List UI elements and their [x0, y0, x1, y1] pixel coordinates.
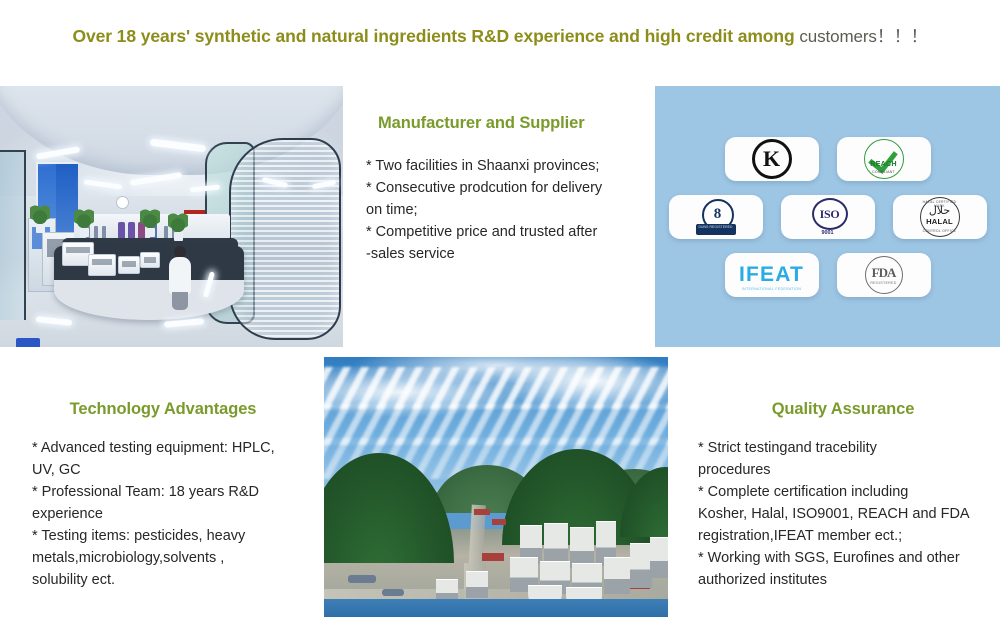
reach-sublabel: COMPLIANT — [865, 170, 903, 174]
aerial-roof — [382, 589, 404, 596]
quality-assurance-block: Quality Assurance * Strict testingand tr… — [690, 400, 996, 591]
technician-legs — [172, 292, 188, 310]
ifeat-sublabel: INTERNATIONAL FEDERATION — [739, 288, 804, 292]
aerial-building — [630, 543, 652, 588]
headline-tail-text: customers！！！ — [799, 27, 927, 46]
lab-potted-plant — [30, 204, 50, 226]
iso-certification-card[interactable]: ISO 9001 — [781, 195, 875, 239]
kosher-circle-k-badge-icon: K — [752, 139, 792, 179]
aerial-cloud-band — [324, 367, 668, 409]
fda-sublabel: REGISTERED — [866, 281, 902, 285]
aerial-river — [324, 599, 668, 617]
page-headline: Over 18 years' synthetic and natural ing… — [0, 22, 1000, 47]
manufacturer-supplier-body: * Two facilities in Shaanxi provinces; *… — [366, 155, 650, 265]
aerial-building — [570, 527, 594, 568]
halal-bottom-arc-text: CONTROL OFFICE — [921, 229, 959, 233]
ifeat-label: IFEAT — [739, 263, 804, 286]
fda-registered-badge-icon: FDA REGISTERED — [865, 256, 903, 294]
certification-badges-panel: K REACH COMPLIANT 8 DUNS REGISTERED — [655, 86, 1000, 347]
lab-instrument — [140, 252, 160, 268]
certification-row-2: 8 DUNS REGISTERED ISO 9001 HALAL CERTIFI… — [665, 195, 990, 239]
certification-row-3: IFEAT INTERNATIONAL FEDERATION FDA REGIS… — [665, 253, 990, 297]
quality-assurance-body: * Strict testingand tracebility procedur… — [690, 437, 996, 591]
aerial-red-roof — [474, 509, 490, 515]
iso-9001-badge-icon: ISO 9001 — [807, 198, 849, 236]
reach-label: REACH — [865, 159, 903, 168]
lab-potted-plant — [140, 208, 160, 230]
certification-row-1: K REACH COMPLIANT — [665, 137, 990, 181]
technology-advantages-body: * Advanced testing equipment: HPLC, UV, … — [8, 437, 318, 591]
lab-blue-floor-box — [16, 338, 40, 347]
quality-seal-certification-card[interactable]: 8 DUNS REGISTERED — [669, 195, 763, 239]
aerial-red-roof — [482, 553, 504, 561]
aerial-roof — [348, 575, 376, 583]
quality-seal-symbol: 8 — [714, 207, 722, 222]
manufacturer-supplier-title: Manufacturer and Supplier — [366, 114, 650, 133]
kosher-certification-card[interactable]: K — [725, 137, 819, 181]
certification-grid: K REACH COMPLIANT 8 DUNS REGISTERED — [655, 86, 1000, 347]
lab-wall-clock — [116, 196, 129, 209]
lab-technician — [168, 246, 192, 310]
lab-glass-partition-curved — [229, 138, 341, 340]
ifeat-certification-card[interactable]: IFEAT INTERNATIONAL FEDERATION — [725, 253, 819, 297]
quality-assurance-title: Quality Assurance — [690, 400, 996, 419]
iso-ring: ISO — [812, 198, 848, 230]
aerial-building — [604, 557, 630, 594]
headline-main-text: Over 18 years' synthetic and natural ing… — [72, 26, 799, 46]
lab-instrument — [88, 254, 116, 276]
halal-certification-card[interactable]: HALAL CERTIFIED MARK حلال HALAL CONTROL … — [893, 195, 987, 239]
technician-lab-coat — [169, 257, 191, 295]
technology-advantages-title: Technology Advantages — [8, 400, 318, 419]
fda-certification-card[interactable]: FDA REGISTERED — [837, 253, 931, 297]
aerial-building — [544, 523, 568, 566]
quality-seal-banner: DUNS REGISTERED — [696, 224, 736, 235]
reach-compliant-badge-icon: REACH COMPLIANT — [864, 139, 904, 179]
lab-potted-plant — [168, 212, 188, 234]
aerial-town-panorama-photo — [324, 357, 668, 617]
ifeat-member-badge-icon: IFEAT INTERNATIONAL FEDERATION — [739, 264, 804, 285]
lab-left-glass-door — [0, 150, 26, 320]
quality-seal-badge-icon: 8 DUNS REGISTERED — [696, 199, 736, 235]
aerial-red-roof — [492, 519, 506, 525]
halal-arabic-script: حلال — [921, 205, 959, 216]
iso-standard-number: 9001 — [807, 230, 849, 236]
aerial-building — [466, 571, 488, 598]
laboratory-panorama-photo — [0, 86, 343, 347]
fda-label: FDA — [872, 266, 896, 279]
lab-potted-plant — [74, 208, 94, 230]
aerial-building — [650, 537, 668, 578]
reach-certification-card[interactable]: REACH COMPLIANT — [837, 137, 931, 181]
iso-label: ISO — [820, 208, 840, 220]
manufacturer-supplier-block: Manufacturer and Supplier * Two faciliti… — [366, 114, 650, 265]
lab-instrument — [118, 256, 140, 274]
halal-badge-icon: HALAL CERTIFIED MARK حلال HALAL CONTROL … — [920, 197, 960, 237]
technology-advantages-block: Technology Advantages * Advanced testing… — [8, 400, 318, 591]
halal-label: HALAL — [921, 217, 959, 226]
